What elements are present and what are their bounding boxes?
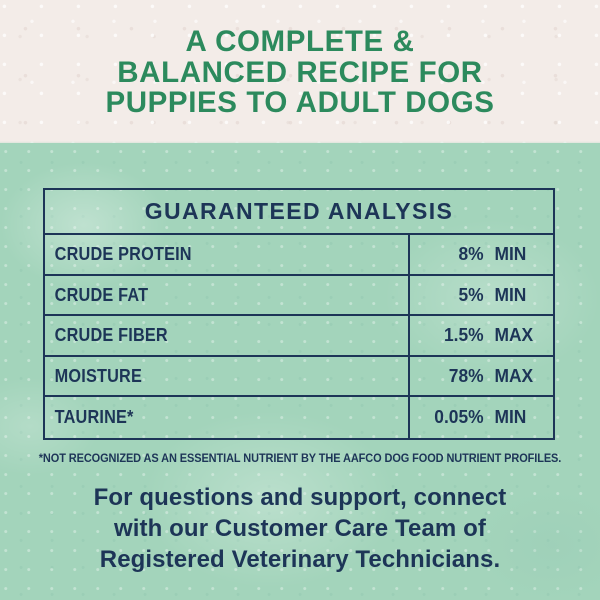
nutrient-unit: MIN [486, 406, 549, 428]
nutrient-figure: 78% MAX [408, 357, 553, 396]
support-message-line-2: with our Customer Care Team of [0, 513, 600, 544]
background-seam [0, 141, 600, 145]
table-header: GUARANTEED ANALYSIS [45, 190, 553, 235]
nutrient-value: 78% [415, 365, 487, 387]
nutrient-figure: 5% MIN [408, 276, 553, 315]
nutrient-unit: MAX [486, 324, 549, 346]
nutrient-figure: 1.5% MAX [408, 316, 553, 355]
page-title-line-2: BALANCED RECIPE FOR [0, 58, 600, 89]
table-row: CRUDE PROTEIN 8% MIN [45, 235, 553, 276]
nutrient-name: CRUDE FIBER [45, 316, 364, 355]
footnote-text: *NOT RECOGNIZED AS AN ESSENTIAL NUTRIENT… [30, 451, 570, 465]
product-label-panel: A COMPLETE & BALANCED RECIPE FOR PUPPIES… [0, 0, 600, 600]
page-title-line-1: A COMPLETE & [0, 27, 600, 58]
nutrient-value: 8% [415, 243, 487, 265]
nutrient-name: CRUDE PROTEIN [45, 235, 364, 274]
nutrient-value: 0.05% [415, 406, 487, 428]
support-message: For questions and support, connect with … [0, 482, 600, 575]
table-row: TAURINE* 0.05% MIN [45, 397, 553, 438]
nutrient-name: TAURINE* [45, 397, 364, 438]
nutrient-unit: MIN [486, 284, 549, 306]
nutrient-figure: 0.05% MIN [408, 397, 553, 438]
table-row: MOISTURE 78% MAX [45, 357, 553, 398]
table-row: CRUDE FAT 5% MIN [45, 276, 553, 317]
nutrient-value: 5% [415, 284, 487, 306]
nutrient-figure: 8% MIN [408, 235, 553, 274]
nutrient-name: MOISTURE [45, 357, 364, 396]
nutrient-unit: MAX [486, 365, 549, 387]
table-row: CRUDE FIBER 1.5% MAX [45, 316, 553, 357]
page-title: A COMPLETE & BALANCED RECIPE FOR PUPPIES… [0, 27, 600, 119]
nutrient-value: 1.5% [415, 324, 487, 346]
support-message-line-1: For questions and support, connect [0, 482, 600, 513]
nutrient-name: CRUDE FAT [45, 276, 364, 315]
nutrient-unit: MIN [486, 243, 549, 265]
guaranteed-analysis-table: GUARANTEED ANALYSIS CRUDE PROTEIN 8% MIN… [43, 188, 555, 440]
page-title-line-3: PUPPIES TO ADULT DOGS [0, 88, 600, 119]
support-message-line-3: Registered Veterinary Technicians. [0, 544, 600, 575]
